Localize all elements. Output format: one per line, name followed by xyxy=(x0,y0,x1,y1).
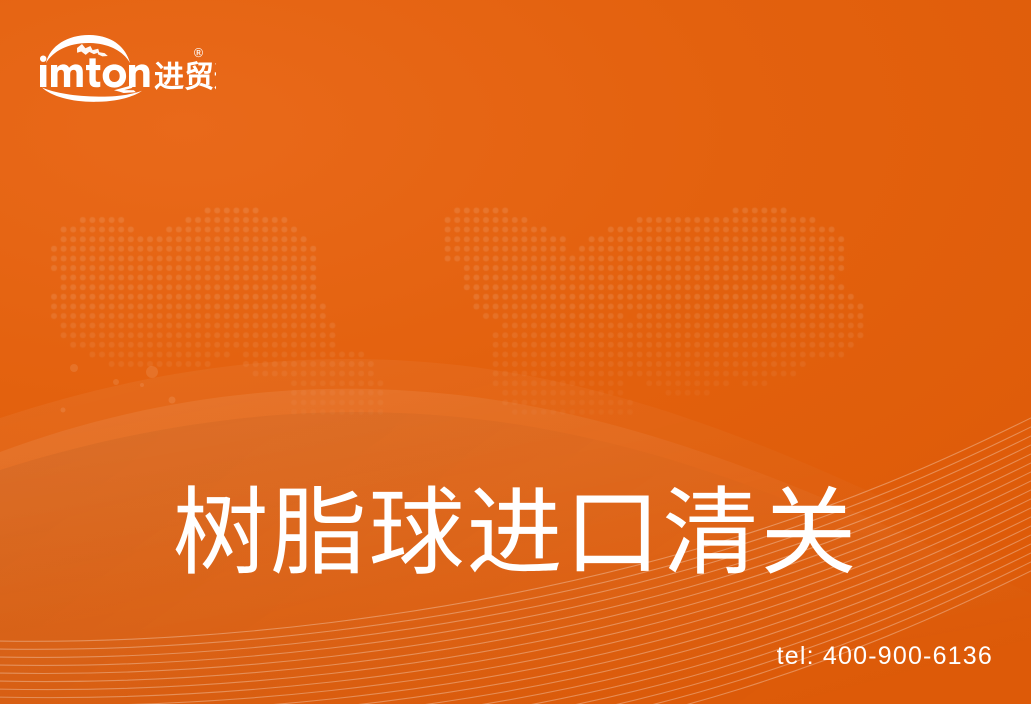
headline-line-1: 树脂球进口清关 xyxy=(0,472,1031,595)
swoosh-icon xyxy=(42,86,142,102)
logo-wordmark xyxy=(40,56,150,88)
globe-icon xyxy=(46,35,130,63)
logo-chinese-text: 进贸通 xyxy=(154,60,216,95)
promo-banner: 进贸通 ® 树脂球进口清关 代理公司 tel: 400-900-6136 xyxy=(0,0,1031,704)
trademark-icon: ® xyxy=(193,46,205,60)
logo-svg: 进贸通 ® xyxy=(36,33,216,103)
contact-telephone[interactable]: tel: 400-900-6136 xyxy=(777,642,993,671)
imton-logo[interactable]: 进贸通 ® xyxy=(36,33,216,103)
page-title: 树脂球进口清关 代理公司 xyxy=(0,226,1031,704)
